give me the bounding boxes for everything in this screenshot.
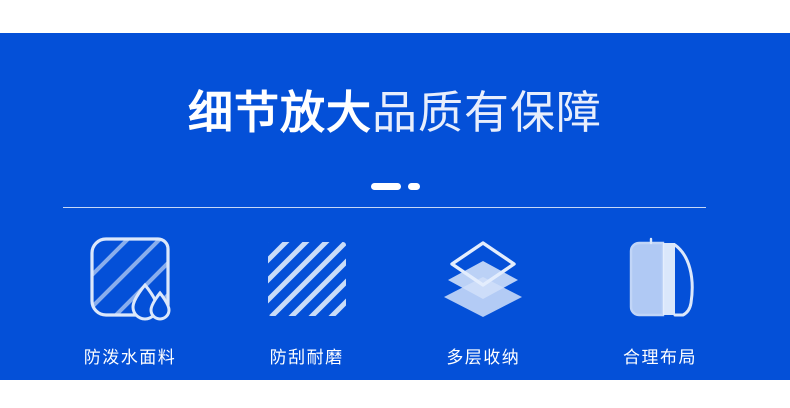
feature-label: 合理布局 xyxy=(623,343,697,368)
multi-layer-stack-icon xyxy=(428,229,538,329)
feature-label: 防泼水面料 xyxy=(84,343,177,368)
divider-dashes xyxy=(0,181,790,191)
scratch-resistant-hatch-icon xyxy=(252,229,362,329)
title-strong-part: 细节放大 xyxy=(188,87,372,138)
waterproof-fabric-icon xyxy=(75,229,185,329)
divider-dash-long-icon xyxy=(371,183,401,190)
feature-label: 多层收纳 xyxy=(446,343,520,368)
divider-dash-short-icon xyxy=(408,183,420,190)
title-light-part: 品质有保障 xyxy=(372,87,602,138)
feature-item: 防刮耐磨 xyxy=(222,229,392,368)
feature-item: 合理布局 xyxy=(575,229,745,368)
feature-item: 多层收纳 xyxy=(398,229,568,368)
promo-banner: 细节放大品质有保障 xyxy=(0,33,790,380)
feature-item: 防泼水面料 xyxy=(45,229,215,368)
feature-label: 防刮耐磨 xyxy=(270,343,344,368)
page-title: 细节放大品质有保障 xyxy=(0,90,790,135)
divider-rule xyxy=(63,207,706,208)
feature-list: 防泼水面料 xyxy=(45,229,745,368)
bag-layout-icon xyxy=(605,229,715,329)
